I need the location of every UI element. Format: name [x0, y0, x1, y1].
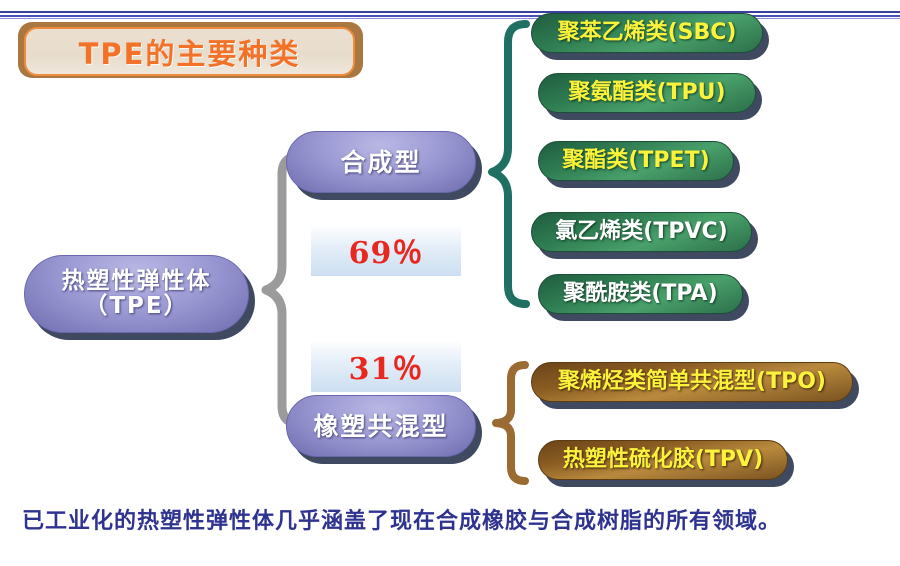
node-label: 聚氨酯类(TPU) — [568, 81, 725, 105]
node-label: 热塑性弹性体 （TPE） — [62, 269, 212, 319]
slide-canvas: TPE的主要种类 热塑性弹性体 （TPE） 合成型 69％ 31％ 橡塑共混型 — [0, 0, 900, 566]
node-label: 氯乙烯类(TPVC) — [555, 220, 727, 244]
node-face: 热塑性弹性体 （TPE） — [24, 255, 249, 333]
node-label: 聚酰胺类(TPA) — [563, 282, 717, 306]
node-face: 聚苯乙烯类(SBC) — [531, 13, 763, 53]
node-face: 氯乙烯类(TPVC) — [531, 212, 752, 252]
node-label: 热塑性硫化胶(TPV) — [563, 448, 763, 472]
percent-value: 69％ — [349, 228, 424, 272]
node-leaf-sbc[interactable]: 聚苯乙烯类(SBC) — [531, 13, 763, 53]
slide-title-plaque: TPE的主要种类 — [18, 22, 363, 78]
node-face: 聚酯类(TPET) — [538, 141, 734, 181]
node-leaf-tpvc[interactable]: 氯乙烯类(TPVC) — [531, 212, 752, 252]
node-face: 合成型 — [286, 131, 476, 193]
percent-panel-blend: 31％ — [311, 340, 461, 392]
node-face: 橡塑共混型 — [286, 395, 476, 457]
top-rule-tertiary — [0, 18, 900, 19]
brace-synthetic-to-children — [486, 18, 534, 310]
node-face: 聚氨酯类(TPU) — [538, 73, 756, 113]
percent-value: 31％ — [349, 344, 424, 388]
slide-caption: 已工业化的热塑性弹性体几乎涵盖了现在合成橡胶与合成树脂的所有领域。 — [22, 503, 882, 535]
node-root-tpe[interactable]: 热塑性弹性体 （TPE） — [24, 255, 249, 333]
node-leaf-tpet[interactable]: 聚酯类(TPET) — [538, 141, 734, 181]
node-label: 合成型 — [340, 149, 421, 176]
node-label: 聚酯类(TPET) — [562, 149, 709, 173]
node-label: 聚烯烃类简单共混型(TPO) — [558, 370, 826, 394]
node-face: 聚酰胺类(TPA) — [538, 274, 743, 314]
top-rule-primary — [0, 11, 900, 13]
node-leaf-tpv[interactable]: 热塑性硫化胶(TPV) — [538, 440, 788, 480]
node-face: 聚烯烃类简单共混型(TPO) — [531, 362, 853, 402]
title-plaque-face: TPE的主要种类 — [24, 27, 355, 76]
node-branch-synthetic[interactable]: 合成型 — [286, 131, 476, 193]
node-label: 聚苯乙烯类(SBC) — [558, 21, 737, 45]
node-leaf-tpa[interactable]: 聚酰胺类(TPA) — [538, 274, 743, 314]
page-title: TPE的主要种类 — [79, 31, 301, 73]
node-label: 橡塑共混型 — [313, 413, 448, 440]
node-face: 热塑性硫化胶(TPV) — [538, 440, 788, 480]
brace-blend-to-children — [489, 360, 533, 486]
node-branch-blend[interactable]: 橡塑共混型 — [286, 395, 476, 457]
top-rule-secondary — [0, 15, 900, 17]
node-leaf-tpu[interactable]: 聚氨酯类(TPU) — [538, 73, 756, 113]
node-leaf-tpo[interactable]: 聚烯烃类简单共混型(TPO) — [531, 362, 853, 402]
percent-panel-synthetic: 69％ — [311, 224, 461, 276]
